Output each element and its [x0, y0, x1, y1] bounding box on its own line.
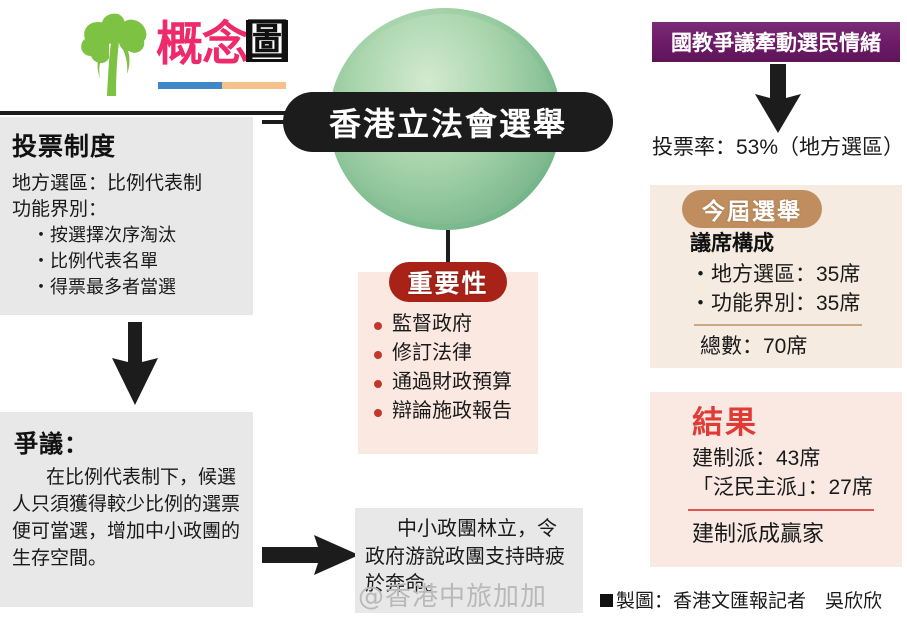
current-election-pill-badge: 今屆選舉 — [682, 190, 822, 228]
importance-pill-badge: 重要性 — [389, 262, 507, 302]
voting-system-line-0: 地方選區：比例代表制 — [12, 171, 243, 197]
current-election-row-1: ・功能界別：35席 — [690, 290, 902, 319]
logo: 概念 圖 — [78, 4, 278, 104]
infographic-canvas: 概念 圖 投票制度 地方選區：比例代表制 功能界別： ・按選擇次序淘汰 ・比例代… — [0, 0, 907, 620]
voting-system-heading: 投票制度 — [12, 127, 243, 163]
current-election-pill-label: 今屆選舉 — [702, 192, 802, 226]
credit-line: 製圖：香港文匯報記者 吳欣欣 — [600, 586, 882, 613]
tree-icon — [78, 6, 156, 98]
current-election-divider — [694, 324, 862, 326]
main-title-pill: 香港立法會選舉 — [283, 92, 613, 152]
result-row-0: 建制派：43席 — [692, 444, 902, 473]
result-conclusion: 建制派成贏家 — [692, 516, 902, 548]
list-item: 修訂法律 — [372, 339, 538, 368]
result-divider — [688, 509, 874, 511]
dispute-heading: 爭議： — [14, 424, 241, 459]
voting-system-bullet-1: ・比例代表名單 — [32, 249, 243, 275]
down-arrow-icon-right — [753, 64, 803, 134]
list-item: 通過財政預算 — [372, 368, 538, 397]
importance-pill-label: 重要性 — [407, 264, 488, 300]
purple-banner: 國教爭議牽動選民情緒 — [652, 22, 900, 62]
current-election-total: 總數：70席 — [700, 330, 902, 360]
current-election-row-0: ・地方選區：35席 — [690, 261, 902, 290]
logo-underline-bar — [158, 82, 286, 89]
logo-bar-orange — [222, 82, 286, 89]
top-divider-rule — [0, 111, 300, 115]
list-item: 辯論施政報告 — [372, 397, 538, 426]
logo-text-concept: 概念 — [156, 20, 248, 67]
watermark-text: @香港中旅加加 — [358, 576, 547, 613]
dispute-body: 在比例代表制下，候選人只須獲得較少比例的選票便可當選，增加中小政團的生存空間。 — [12, 465, 241, 573]
voting-system-panel: 投票制度 地方選區：比例代表制 功能界別： ・按選擇次序淘汰 ・比例代表名單 ・… — [0, 117, 253, 315]
logo-text-diagram: 圖 — [246, 20, 288, 62]
turnout-rate-text: 投票率：53%（地方選區） — [652, 131, 904, 161]
down-arrow-icon — [110, 322, 160, 406]
voting-system-bullet-2: ・得票最多者當選 — [32, 275, 243, 301]
result-row-1: 「泛民主派」：27席 — [692, 473, 902, 502]
purple-banner-label: 國教爭議牽動選民情緒 — [671, 27, 881, 57]
voting-system-bullet-0: ・按選擇次序淘汰 — [32, 223, 243, 249]
credit-text: 製圖：香港文匯報記者 吳欣欣 — [616, 591, 882, 612]
right-arrow-icon — [262, 533, 360, 577]
list-item: 監督政府 — [372, 310, 538, 339]
result-panel: 結果 建制派：43席 「泛民主派」：27席 建制派成贏家 — [650, 392, 902, 567]
current-election-heading: 議席構成 — [690, 227, 902, 257]
dispute-panel: 爭議： 在比例代表制下，候選人只須獲得較少比例的選票便可當選，增加中小政團的生存… — [0, 412, 253, 607]
logo-bar-blue — [158, 82, 222, 89]
voting-system-line-1: 功能界別： — [12, 197, 243, 223]
result-heading: 結果 — [692, 406, 902, 440]
page-title: 香港立法會選舉 — [329, 99, 567, 145]
credit-square-icon — [600, 594, 613, 607]
